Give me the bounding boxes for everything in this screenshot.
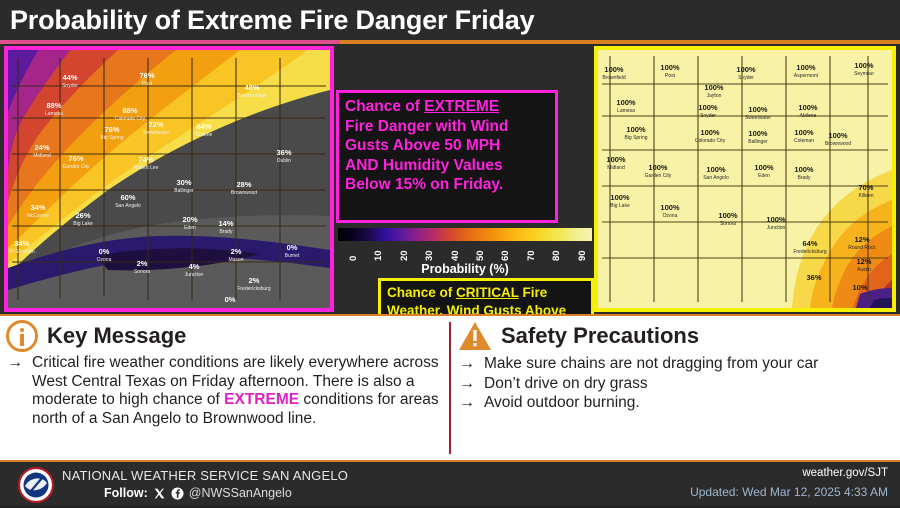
map-place-label: Brownwood [231,190,257,196]
footer-bar: NATIONAL WEATHER SERVICE SAN ANGELO Foll… [0,462,900,506]
safety-item: →Don’t drive on dry grass [458,375,898,394]
map-place-label: Fredericksburg [237,286,271,292]
warning-triangle-icon [458,321,492,351]
map-place-label: Big Spring [100,135,123,141]
map-place-label: Junction [185,272,204,278]
map-value-label: 28% [236,180,251,189]
map-value-label: 0% [99,247,110,256]
map-value-label: 100% [854,61,874,70]
critical-line-0b: Fire [519,285,548,300]
facebook-icon[interactable] [171,487,184,500]
map-place-label: Snyder [700,113,716,119]
map-place-label: Sweetwater [745,115,771,121]
extreme-keyword: EXTREME [424,98,499,115]
safety-item-label: Avoid outdoor burning. [484,394,640,413]
map-place-label: Snyder [738,75,754,81]
footer-website: weather.gov/SJT [802,467,888,479]
map-value-label: 64% [802,239,817,248]
safety-header: Safety Precautions [458,318,898,354]
map-value-label: 100% [798,103,818,112]
map-place-label: Killeen [858,193,873,199]
map-value-label: 2% [231,247,242,256]
map-place-label: Austin [857,267,871,273]
map-place-label: Brady [219,229,233,235]
right-map-svg: 100%Brownfield100%Post100%Snyder100%Aspe… [598,50,892,308]
safety-item: →Avoid outdoor burning. [458,394,898,413]
safety-precautions-section: Safety Precautions →Make sure chains are… [458,318,898,414]
colorbar-ticks: 0102030405060708090 [338,241,592,263]
map-value-label: 64% [196,122,211,131]
colorbar-gradient [338,228,592,241]
footer-handle: @NWSSanAngelo [189,486,292,500]
safety-item-label: Don’t drive on dry grass [484,375,648,394]
map-place-label: Big Lake [73,221,93,227]
key-message-header: Key Message [6,318,446,354]
colorbar-tick: 0 [348,256,359,261]
map-value-label: 74% [138,155,153,164]
map-value-label: 100% [706,165,726,174]
map-value-label: 100% [610,193,630,202]
weather-graphic: Probability of Extreme Fire Danger Frida… [0,0,900,506]
maps-row: 44%Snyder76%Post88%Lamesa88%Colorado Cit… [0,44,900,314]
map-place-label: Abilene [800,113,817,119]
map-value-label: 100% [698,103,718,112]
map-value-label: 0% [287,243,298,252]
colorbar-tick: 50 [475,250,486,261]
map-place-label: Ballinger [174,188,194,194]
map-place-label: Ballinger [748,139,768,145]
map-value-label: 44% [62,73,77,82]
extreme-fire-danger-probability-map: 44%Snyder76%Post88%Lamesa88%Colorado Cit… [4,46,334,312]
footer-updated: Updated: Wed Mar 12, 2025 4:33 AM [690,485,888,499]
map-value-label: 10% [852,283,867,292]
map-value-label: 100% [606,155,626,164]
map-place-label: Mason [228,257,243,263]
map-place-label: Snyder [62,83,78,89]
map-value-label: 30% [176,178,191,187]
map-place-label: San Angelo [703,175,729,181]
map-place-label: Eden [184,225,196,231]
map-value-label: 100% [616,98,636,107]
map-place-label: Coleman [794,138,814,144]
map-value-label: 100% [748,129,768,138]
key-message-bullet: → Critical fire weather conditions are l… [6,354,446,428]
map-value-label: 100% [700,128,720,137]
map-value-label: 34% [14,239,29,248]
page-title: Probability of Extreme Fire Danger Frida… [10,2,534,38]
colorbar-tick: 20 [399,250,410,261]
map-place-label: Brady [797,175,811,181]
map-value-label: 48% [244,83,259,92]
map-place-label: Jayton [707,93,722,99]
map-place-label: Aspermont [794,73,819,79]
info-panel: Key Message → Critical fire weather cond… [0,314,900,462]
map-place-label: Dublin [277,158,291,164]
header-bar: Probability of Extreme Fire Danger Frida… [0,0,900,40]
map-place-label: Colorado City [695,138,726,144]
map-value-label: 36% [806,273,821,282]
info-circle-icon [6,320,38,352]
panel-divider [449,322,451,454]
map-value-label: 100% [704,83,724,92]
map-value-label: 100% [794,128,814,137]
map-place-label: Abilene [196,132,213,138]
map-value-label: 70% [858,183,873,192]
map-value-label: 100% [604,65,624,74]
map-value-label: 100% [626,125,646,134]
map-place-label: Midland [33,153,51,159]
map-place-label: Brownfield [602,75,626,81]
arrow-icon: → [458,394,476,412]
map-value-label: 36% [276,148,291,157]
map-place-label: Eden [758,173,770,179]
colorbar-label: Probability (%) [338,262,592,276]
map-place-label: Sonora [134,269,150,275]
map-place-label: Ft Stockton [9,249,35,255]
map-place-label: Sonora [720,221,736,227]
key-body-highlight: EXTREME [224,391,299,408]
map-value-label: 12% [854,235,869,244]
map-place-label: Midland [607,165,625,171]
key-message-body: Critical fire weather conditions are lik… [32,354,446,428]
map-value-label: 76% [68,154,83,163]
map-value-label: 100% [736,65,756,74]
colorbar-tick: 70 [526,250,537,261]
map-value-label: 100% [718,211,738,220]
map-value-label: 100% [660,203,680,212]
colorbar-tick: 40 [450,250,461,261]
map-place-label: Seymour [854,71,874,77]
left-map-svg: 44%Snyder76%Post88%Lamesa88%Colorado Cit… [8,50,330,308]
arrow-icon: → [6,354,24,372]
map-value-label: 100% [828,131,848,140]
map-place-label: Colorado City [115,116,146,122]
nws-logo [18,467,54,503]
map-place-label: Garden City [63,164,90,170]
map-value-label: 76% [104,125,119,134]
map-value-label: 2% [249,276,260,285]
safety-list: →Make sure chains are not dragging from … [458,355,898,413]
map-value-label: 100% [754,163,774,172]
colorbar-tick: 90 [577,250,588,261]
map-value-label: 88% [46,101,61,110]
map-value-label: 26% [75,211,90,220]
colorbar-tick: 60 [500,250,511,261]
colorbar-tick: 10 [373,250,384,261]
extreme-callout-text: Chance of EXTREME Fire Danger with Wind … [345,97,549,195]
extreme-line-0: Chance of [345,98,424,115]
map-place-label: Sweetwater [143,130,169,136]
map-value-label: 60% [120,193,135,202]
extreme-line-3: AND Humidity Values [345,157,503,174]
critical-fire-weather-probability-map: 100%Brownfield100%Post100%Snyder100%Aspe… [594,46,896,312]
map-place-label: Lamesa [617,108,635,114]
map-value-label: 72% [148,120,163,129]
map-place-label: Round Rock [848,245,876,251]
map-value-label: 100% [796,63,816,72]
map-place-label: Garden City [645,173,672,179]
safety-item-label: Make sure chains are not dragging from y… [484,355,818,374]
map-place-label: Ozona [97,257,112,263]
colorbar-tick: 30 [424,250,435,261]
map-value-label: 4% [189,262,200,271]
extreme-line-1: Fire Danger with Wind [345,118,508,135]
map-value-label: 20% [182,215,197,224]
x-twitter-icon[interactable] [153,487,166,500]
extreme-line-2: Gusts Above 50 MPH [345,137,500,154]
map-value-label: 14% [218,219,233,228]
map-place-label: Robert Lee [134,165,159,171]
critical-line-0a: Chance of [387,285,456,300]
footer-org: NATIONAL WEATHER SERVICE SAN ANGELO [62,468,348,483]
map-place-label: San Angelo [115,203,141,209]
map-place-label: Big Spring [624,135,647,141]
footer-follow-label: Follow: [104,486,148,500]
map-value-label: 100% [648,163,668,172]
probability-colorbar: 0102030405060708090 Probability (%) [338,228,594,276]
map-place-label: McCamey [27,213,50,219]
colorbar-tick: 80 [551,250,562,261]
map-place-label: Ozona [663,213,678,219]
key-message-section: Key Message → Critical fire weather cond… [6,318,446,429]
extreme-callout-box: Chance of EXTREME Fire Danger with Wind … [336,90,558,223]
safety-title: Safety Precautions [501,323,699,349]
extreme-line-4: Below 15% on Friday. [345,176,503,193]
map-value-label: 0% [225,295,236,304]
map-place-label: Lamesa [45,111,63,117]
arrow-icon: → [458,355,476,373]
footer-follow: Follow: @NWSSanAngelo [104,486,292,500]
map-value-label: 76% [139,71,154,80]
map-value-label: 34% [30,203,45,212]
panel-top-rule [0,314,900,316]
map-place-label: Brownwood [825,141,851,147]
arrow-icon: → [458,375,476,393]
map-value-label: 100% [748,105,768,114]
map-value-label: 100% [794,165,814,174]
map-value-label: 12% [856,257,871,266]
map-place-label: Fredericksburg [793,249,827,255]
key-message-title: Key Message [47,323,186,349]
map-place-label: Post [665,73,676,79]
map-place-label: Breckenridge [237,93,267,99]
map-value-label: 2% [137,259,148,268]
map-value-label: 100% [660,63,680,72]
safety-item: →Make sure chains are not dragging from … [458,355,898,374]
map-value-label: 100% [766,215,786,224]
map-value-label: 88% [122,106,137,115]
map-place-label: Post [142,81,153,87]
map-place-label: Burnet [285,253,300,259]
map-place-label: Junction [767,225,786,231]
critical-keyword: CRITICAL [456,285,519,300]
map-place-label: Big Lake [610,203,630,209]
map-value-label: 24% [34,143,49,152]
